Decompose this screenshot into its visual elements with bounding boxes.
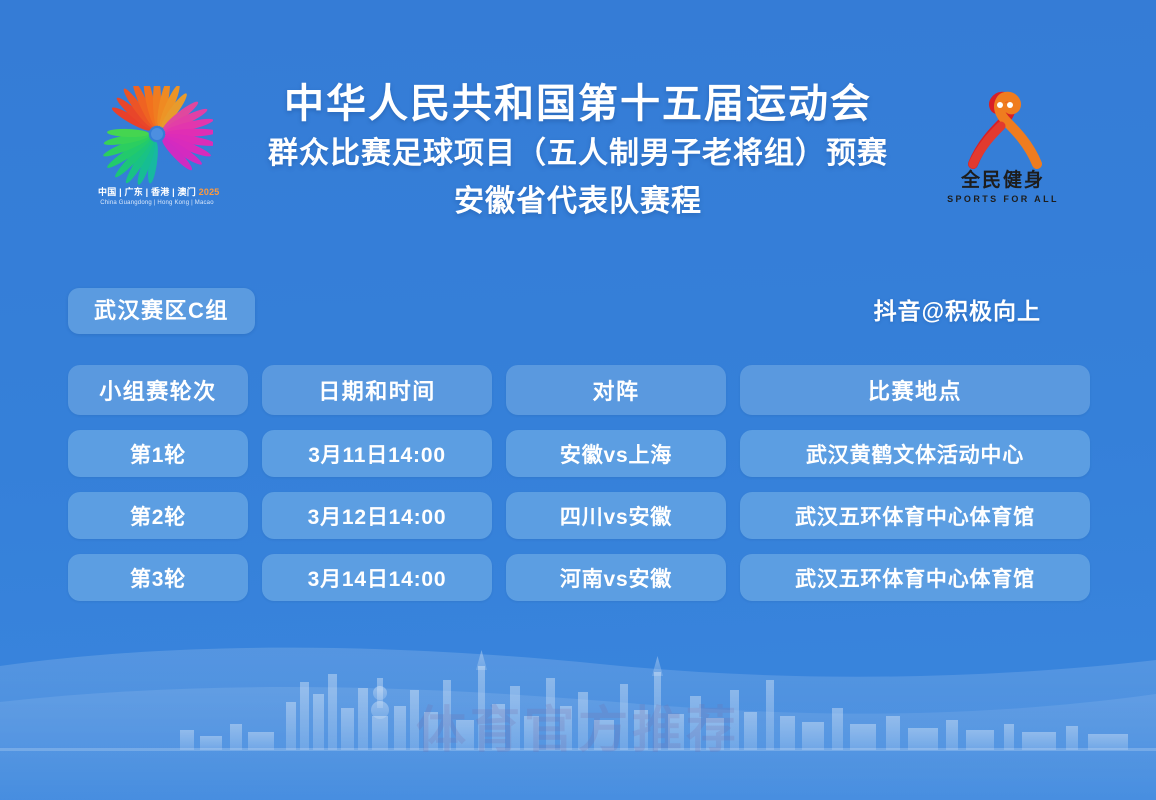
table-header-row: 小组赛轮次 日期和时间 对阵 比赛地点 (68, 365, 1090, 415)
cell-fixture: 河南vs安徽 (506, 554, 726, 601)
cell-datetime: 3月14日14:00 (262, 554, 492, 601)
skyline-reflection (286, 751, 1056, 800)
bottom-decoration (0, 620, 1156, 800)
emblem-caption: 中国 | 广东 | 香港 | 澳门 2025 China Guangdong |… (98, 187, 216, 208)
watermark-text: 体育官方推荐 (0, 690, 1156, 762)
schedule-table: 小组赛轮次 日期和时间 对阵 比赛地点 第1轮 3月11日14:00 安徽vs上… (68, 365, 1090, 601)
sports-for-all-en: SPORTS FOR ALL (938, 193, 1068, 205)
emblem-caption-en: China Guangdong | Hong Kong | Macao (98, 199, 216, 208)
page-title: 中华人民共和国第十五届运动会 (216, 78, 940, 130)
cell-datetime: 3月11日14:00 (262, 430, 492, 477)
column-header-round: 小组赛轮次 (68, 365, 248, 415)
cell-venue: 武汉五环体育中心体育馆 (740, 554, 1090, 601)
cell-datetime: 3月12日14:00 (262, 492, 492, 539)
cell-round: 第1轮 (68, 430, 248, 477)
cell-fixture: 安徽vs上海 (506, 430, 726, 477)
column-header-fixture: 对阵 (506, 365, 726, 415)
emblem-fan-icon (101, 86, 213, 186)
poster-canvas: 中国 | 广东 | 香港 | 澳门 2025 China Guangdong |… (0, 0, 1156, 800)
poster-header: 中国 | 广东 | 香港 | 澳门 2025 China Guangdong |… (0, 78, 1156, 268)
cell-fixture: 四川vs安徽 (506, 492, 726, 539)
page-subtitle: 群众比赛足球项目（五人制男子老将组）预赛 (216, 130, 940, 178)
sports-for-all-cn: 全民健身 (938, 170, 1068, 192)
sports-for-all-caption: 全民健身 SPORTS FOR ALL (938, 170, 1068, 205)
poster-subbar: 武汉赛区C组 抖音@积极向上 (0, 288, 1156, 334)
fifteenth-national-games-emblem: 中国 | 广东 | 香港 | 澳门 2025 China Guangdong |… (98, 86, 216, 216)
page-subtitle-secondary: 安徽省代表队赛程 (216, 178, 940, 226)
emblem-caption-cn: 中国 | 广东 | 香港 | 澳门 2025 (98, 187, 216, 198)
city-skyline (180, 650, 1128, 750)
table-row: 第1轮 3月11日14:00 安徽vs上海 武汉黄鹤文体活动中心 (68, 430, 1090, 477)
poster-titles: 中华人民共和国第十五届运动会 群众比赛足球项目（五人制男子老将组）预赛 安徽省代… (216, 78, 940, 226)
table-row: 第2轮 3月12日14:00 四川vs安徽 武汉五环体育中心体育馆 (68, 492, 1090, 539)
social-handle: 抖音@积极向上 (874, 292, 1041, 326)
cell-round: 第3轮 (68, 554, 248, 601)
sports-for-all-emblem: 全民健身 SPORTS FOR ALL (938, 78, 1068, 218)
group-badge: 武汉赛区C组 (68, 288, 255, 334)
cell-round: 第2轮 (68, 492, 248, 539)
column-header-venue: 比赛地点 (740, 365, 1090, 415)
table-row: 第3轮 3月14日14:00 河南vs安徽 武汉五环体育中心体育馆 (68, 554, 1090, 601)
running-figures-icon (951, 78, 1055, 174)
cell-venue: 武汉五环体育中心体育馆 (740, 492, 1090, 539)
skyline-wave-graphic (0, 620, 1156, 800)
column-header-datetime: 日期和时间 (262, 365, 492, 415)
cell-venue: 武汉黄鹤文体活动中心 (740, 430, 1090, 477)
